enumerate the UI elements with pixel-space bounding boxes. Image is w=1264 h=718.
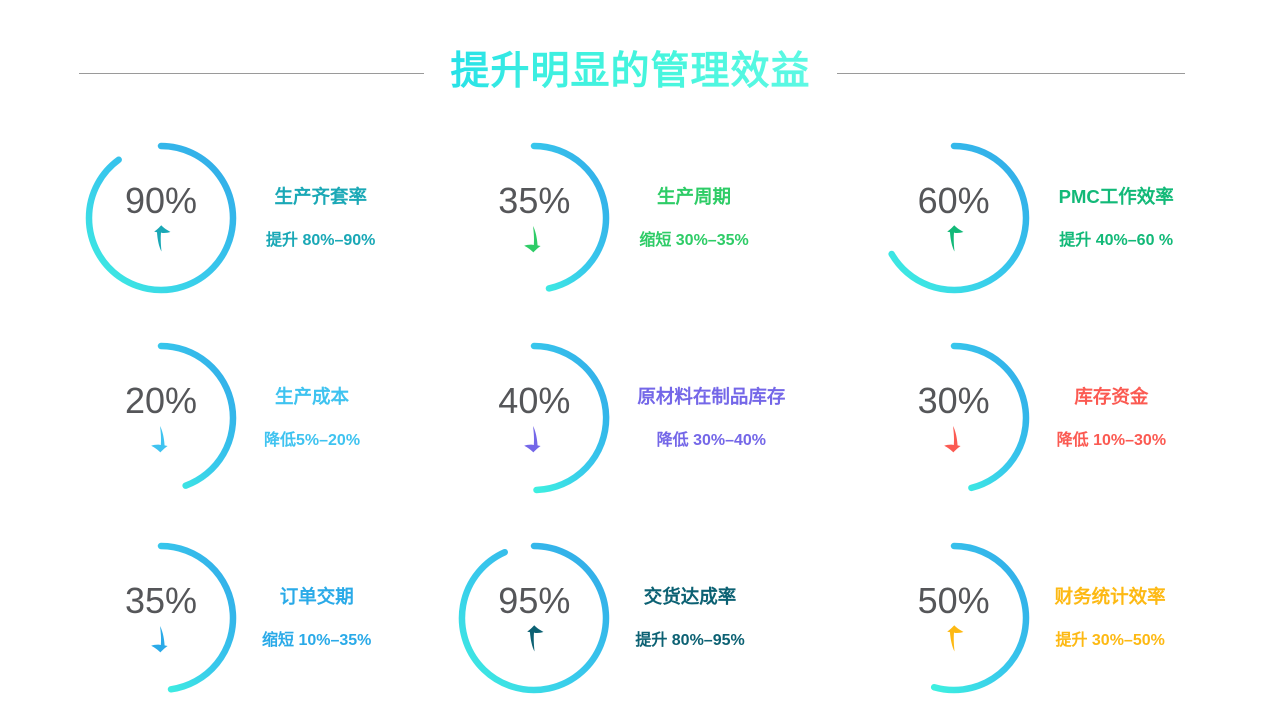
gauge-labels: 原材料在制品库存 降低 30%–40%	[637, 386, 785, 449]
arrow-down-icon	[941, 424, 967, 454]
gauge-card: 35% 生产周期 缩短 30%–35%	[421, 118, 842, 318]
metric-subtitle: 降低 10%–30%	[1057, 431, 1166, 450]
arrow-down-icon	[148, 624, 174, 654]
metric-title: 财务统计效率	[1055, 586, 1166, 608]
gauge-card: 50% 财务统计效率 提升 30%–50%	[843, 518, 1264, 718]
metric-title: 库存资金	[1074, 386, 1148, 408]
gauge-value-text: 35%	[125, 583, 197, 619]
gauge-ring: 35%	[78, 535, 244, 701]
gauge-card: 35% 订单交期 缩短 10%–35%	[0, 518, 421, 718]
gauge-value-text: 90%	[125, 183, 197, 219]
gauge-card: 20% 生产成本 降低5%–20%	[0, 318, 421, 518]
gauge-ring: 30%	[871, 335, 1037, 501]
arrow-up-icon	[941, 624, 967, 654]
arrow-down-icon	[148, 424, 174, 454]
gauge-center: 35%	[78, 535, 244, 701]
gauge-grid: 90% 生产齐套率 提升 80%–90%	[0, 118, 1264, 718]
gauge-value-text: 60%	[918, 183, 990, 219]
gauge-value-text: 30%	[918, 383, 990, 419]
metric-subtitle: 降低5%–20%	[264, 431, 360, 450]
title-rule-right	[837, 73, 1185, 74]
metric-subtitle: 降低 30%–40%	[657, 431, 766, 450]
gauge-ring: 40%	[451, 335, 617, 501]
metric-title: 生产周期	[657, 186, 731, 208]
gauge-ring: 60%	[871, 135, 1037, 301]
arrow-up-icon	[521, 624, 547, 654]
gauge-center: 90%	[78, 135, 244, 301]
metric-title: 交货达成率	[644, 586, 737, 608]
gauge-value-text: 50%	[918, 583, 990, 619]
metric-title: PMC工作效率	[1059, 186, 1174, 208]
arrow-down-icon	[521, 224, 547, 254]
gauge-value-text: 95%	[498, 583, 570, 619]
gauge-ring: 20%	[78, 335, 244, 501]
arrow-up-icon	[941, 224, 967, 254]
metric-subtitle: 提升 80%–90%	[266, 231, 375, 250]
metric-subtitle: 缩短 10%–35%	[262, 631, 371, 650]
gauge-center: 50%	[871, 535, 1037, 701]
metric-title: 生产成本	[275, 386, 349, 408]
gauge-ring: 95%	[451, 535, 617, 701]
page-title: 提升明显的管理效益	[450, 48, 810, 99]
gauge-labels: 订单交期 缩短 10%–35%	[262, 586, 371, 649]
metric-subtitle: 提升 40%–60 %	[1059, 231, 1173, 250]
gauge-value-text: 20%	[125, 383, 197, 419]
gauge-labels: PMC工作效率 提升 40%–60 %	[1059, 186, 1174, 249]
gauge-center: 40%	[451, 335, 617, 501]
gauge-labels: 生产成本 降低5%–20%	[264, 386, 360, 449]
gauge-value-text: 35%	[498, 183, 570, 219]
gauge-ring: 35%	[451, 135, 617, 301]
gauge-labels: 生产齐套率 提升 80%–90%	[266, 186, 375, 249]
page-header: 提升明显的管理效益	[0, 44, 1264, 102]
metric-title: 原材料在制品库存	[637, 386, 785, 408]
gauge-card: 60% PMC工作效率 提升 40%–60 %	[843, 118, 1264, 318]
gauge-value-text: 40%	[498, 383, 570, 419]
metric-subtitle: 缩短 30%–35%	[639, 231, 748, 250]
metric-title: 订单交期	[280, 586, 354, 608]
arrow-down-icon	[521, 424, 547, 454]
gauge-card: 40% 原材料在制品库存 降低 30%–40%	[421, 318, 842, 518]
gauge-card: 90% 生产齐套率 提升 80%–90%	[0, 118, 421, 318]
gauge-center: 30%	[871, 335, 1037, 501]
metric-subtitle: 提升 80%–95%	[635, 631, 744, 650]
gauge-labels: 库存资金 降低 10%–30%	[1057, 386, 1166, 449]
gauge-center: 35%	[451, 135, 617, 301]
gauge-ring: 50%	[871, 535, 1037, 701]
arrow-up-icon	[148, 224, 174, 254]
gauge-center: 95%	[451, 535, 617, 701]
gauge-center: 60%	[871, 135, 1037, 301]
title-rule-left	[79, 73, 424, 74]
gauge-ring: 90%	[78, 135, 244, 301]
gauge-labels: 交货达成率 提升 80%–95%	[635, 586, 744, 649]
gauge-labels: 财务统计效率 提升 30%–50%	[1055, 586, 1166, 649]
gauge-card: 30% 库存资金 降低 10%–30%	[843, 318, 1264, 518]
metric-subtitle: 提升 30%–50%	[1055, 631, 1164, 650]
metric-title: 生产齐套率	[274, 186, 367, 208]
gauge-labels: 生产周期 缩短 30%–35%	[639, 186, 748, 249]
gauge-card: 95% 交货达成率 提升 80%–95%	[421, 518, 842, 718]
gauge-center: 20%	[78, 335, 244, 501]
